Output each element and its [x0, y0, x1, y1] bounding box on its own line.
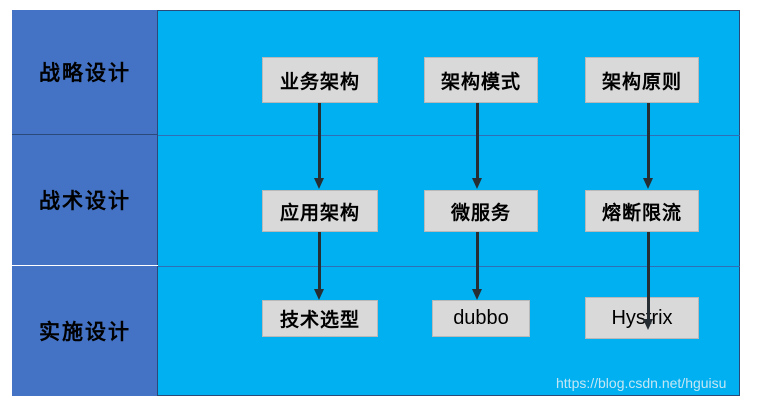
row-label-implementation: 实施设计 [12, 266, 158, 396]
node-architecture-principle[interactable]: 架构原则 [585, 57, 699, 103]
node-dubbo[interactable]: dubbo [432, 300, 530, 337]
row-label-text: 实施设计 [39, 316, 131, 346]
row-label-strategic: 战略设计 [12, 10, 158, 135]
node-label: 技术选型 [280, 305, 360, 332]
node-label: dubbo [453, 307, 509, 330]
node-label: 应用架构 [280, 198, 360, 225]
row-label-tactical: 战术设计 [12, 135, 158, 266]
node-label: 架构原则 [602, 67, 682, 94]
node-technology-selection[interactable]: 技术选型 [262, 300, 378, 337]
node-label: 微服务 [451, 198, 511, 225]
node-business-architecture[interactable]: 业务架构 [262, 57, 378, 103]
row-label-column: 战略设计 战术设计 实施设计 [12, 10, 158, 396]
node-label: 业务架构 [280, 67, 360, 94]
node-hystrix[interactable]: Hystrix [585, 297, 699, 339]
node-application-architecture[interactable]: 应用架构 [262, 190, 378, 232]
node-architecture-pattern[interactable]: 架构模式 [424, 57, 538, 103]
node-label: Hystrix [611, 307, 672, 330]
row-divider-2 [158, 266, 740, 267]
row-divider-1 [158, 135, 740, 136]
row-label-text: 战术设计 [39, 185, 131, 215]
node-label: 熔断限流 [602, 198, 682, 225]
watermark: https://blog.csdn.net/hguisu [556, 375, 726, 391]
node-microservice[interactable]: 微服务 [424, 190, 538, 232]
diagram-canvas: 战略设计 战术设计 实施设计 业务架构 应用架构 技术选型 架构模式 微服务 [0, 0, 759, 407]
node-circuit-breaker[interactable]: 熔断限流 [585, 190, 699, 232]
row-label-text: 战略设计 [39, 57, 131, 87]
node-label: 架构模式 [441, 67, 521, 94]
